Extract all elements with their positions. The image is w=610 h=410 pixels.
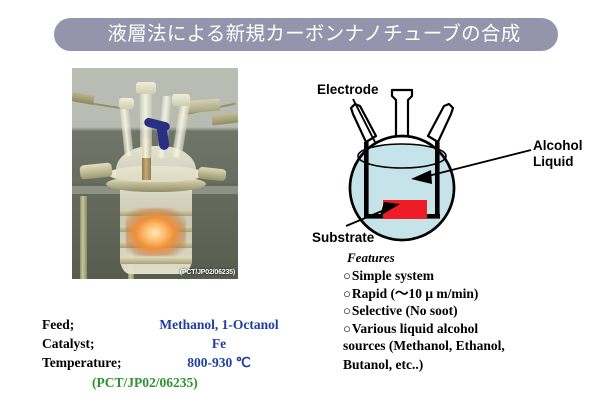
apparatus-diagram: Electrode Alcohol Liquid Substrate <box>300 78 610 258</box>
spec-value-temperature: 800-930 ℃ <box>134 355 304 371</box>
feature-item-simple-system: ○ Simple system <box>343 267 601 285</box>
circle-bullet-icon: ○ <box>343 267 351 285</box>
label-substrate: Substrate <box>312 230 374 246</box>
circle-bullet-icon: ○ <box>343 302 351 320</box>
photo-heater-coil <box>120 258 192 264</box>
feature-label: Simple system <box>352 267 434 285</box>
photo-glass-cap <box>136 82 156 94</box>
reactor-photograph: (PCT/JP02/06235) <box>72 68 238 279</box>
circle-bullet-icon: ○ <box>343 285 351 303</box>
photo-plasma-glow <box>126 208 186 256</box>
photo-glass-cap <box>119 98 134 109</box>
spec-row-catalyst: Catalyst; Fe <box>42 336 304 355</box>
feature-label: Rapid (〜10 μ m/min) <box>352 285 479 303</box>
photo-glass-cap <box>172 94 190 106</box>
label-alcohol-liquid: Alcohol Liquid <box>533 138 583 170</box>
feature-continuation-line-1: sources (Methanol, Ethanol, <box>343 337 601 356</box>
specification-block: Feed; Methanol, 1-Octanol Catalyst; Fe T… <box>42 317 304 391</box>
feature-label: Various liquid alcohol <box>352 320 478 338</box>
spec-value-catalyst: Fe <box>134 336 304 352</box>
center-neck <box>392 90 412 140</box>
feature-item-various-alcohol: ○ Various liquid alcohol <box>343 320 601 338</box>
spec-label-catalyst: Catalyst; <box>42 336 134 352</box>
spec-row-feed: Feed; Methanol, 1-Octanol <box>42 317 304 336</box>
feature-continuation-line-2: Butanol, etc..) <box>343 356 601 375</box>
photo-caption: (PCT/JP02/06235) <box>180 269 235 276</box>
spec-label-temperature: Temperature; <box>42 355 134 371</box>
page-title: 液層法による新規カーボンナノチューブの合成 <box>81 25 530 45</box>
spec-label-feed: Feed; <box>42 317 134 333</box>
feature-label: Selective (No soot) <box>352 302 458 320</box>
label-alcohol-line1: Alcohol <box>533 138 583 154</box>
spec-value-feed: Methanol, 1-Octanol <box>134 317 304 333</box>
photo-stand-rod-left <box>80 196 87 279</box>
feature-item-selective: ○ Selective (No soot) <box>343 302 601 320</box>
label-electrode: Electrode <box>317 82 379 98</box>
circle-bullet-icon: ○ <box>343 320 351 338</box>
feature-item-rapid: ○ Rapid (〜10 μ m/min) <box>343 285 601 303</box>
electrode-rod-left <box>364 142 369 218</box>
features-heading: Features <box>343 250 601 266</box>
slide-title-banner: 液層法による新規カーボンナノチューブの合成 <box>54 18 558 51</box>
label-alcohol-line2: Liquid <box>533 154 583 170</box>
spec-row-temperature: Temperature; 800-930 ℃ <box>42 355 304 374</box>
features-list: Features ○ Simple system ○ Rapid (〜10 μ … <box>343 250 601 374</box>
patent-number: (PCT/JP02/06235) <box>42 375 304 391</box>
slide-canvas: 液層法による新規カーボンナノチューブの合成 (PCT/JP02 <box>0 0 610 410</box>
electrode-rod-right <box>435 142 440 218</box>
